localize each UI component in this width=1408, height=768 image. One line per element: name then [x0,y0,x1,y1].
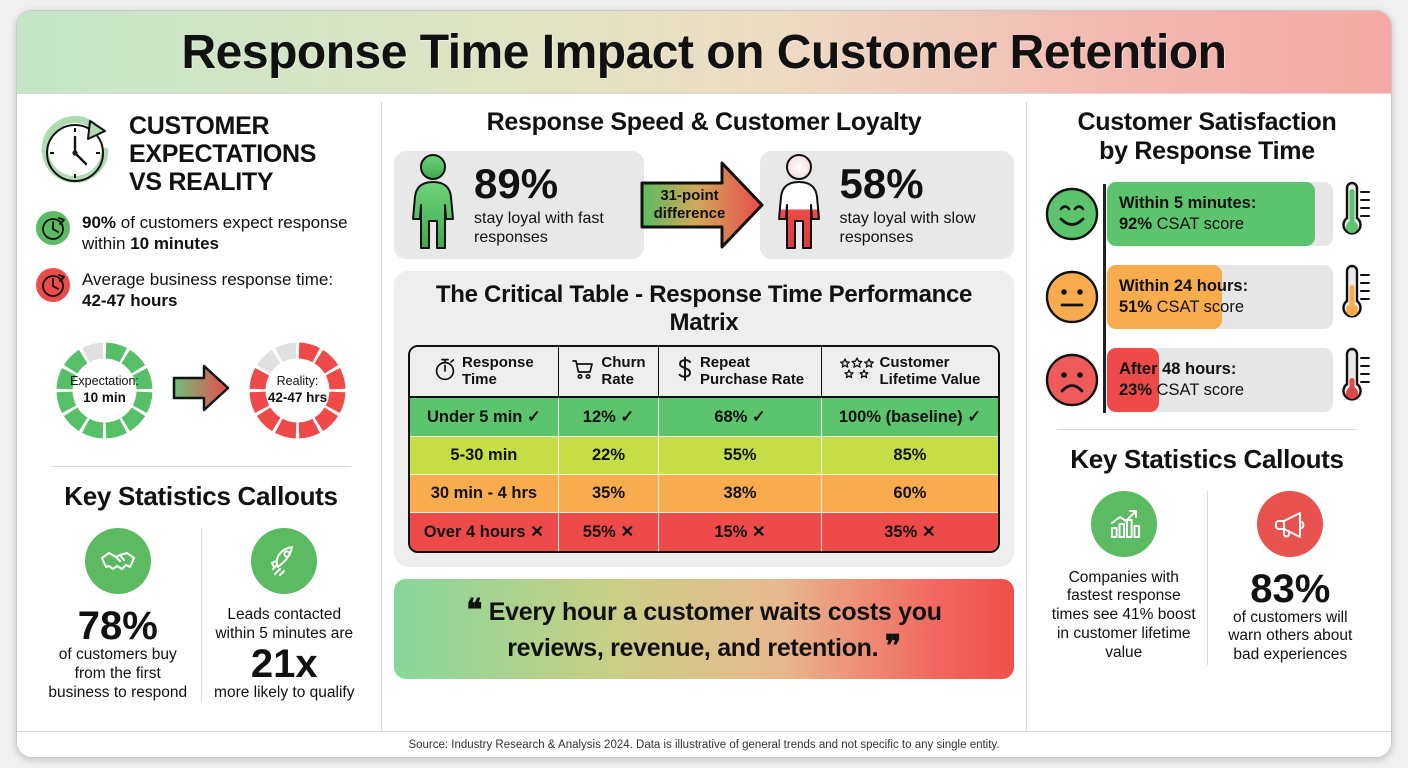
csat-bar-label: Within 5 minutes: 92% CSAT score [1107,193,1256,234]
column-header-label: Response Time [462,354,534,389]
customer-expectations-title: CUSTOMER EXPECTATIONS VS REALITY [129,112,316,196]
key-stat-value: 78% [43,606,193,646]
csat-suffix: CSAT score [1152,215,1244,233]
smiley-happy-icon [1045,187,1099,241]
donut-value: 42-47 hrs [268,390,327,407]
title-line-1: CUSTOMER [129,112,316,140]
csat-row: Within 24 hours: 51% CSAT score [1045,263,1373,332]
quote-banner: ❝ Every hour a customer waits costs your… [394,579,1014,679]
table-row: Over 4 hours ✕ 55% ✕ 15% ✕ 35% ✕ [410,513,998,551]
cell-response-time: 5-30 min [410,437,559,475]
red-clock-icon [35,267,71,308]
csat-suffix: CSAT score [1152,381,1244,399]
thermometer-green-icon [1339,180,1373,249]
table-row: 30 min - 4 hrs 35% 38% 60% [410,475,998,513]
quote-close-mark: ❞ [885,630,901,663]
person-green-icon [402,153,464,258]
header-banner: Response Time Impact on Customer Retenti… [17,11,1391,94]
page-title: Response Time Impact on Customer Retenti… [182,25,1227,80]
bullet-plain-text: Average business response time: [82,270,333,289]
csat-axis-line [1103,184,1106,413]
bullet-bold-value-2: 42-47 hours [82,291,177,310]
key-stat-item: Companies with fastest response times se… [1041,491,1207,666]
csat-row: After 48 hours: 23% CSAT score [1045,346,1373,415]
csat-value: 23% [1119,381,1152,399]
thermometer-orange-icon [1339,263,1373,332]
right-key-stats-row: Companies with fastest response times se… [1041,491,1373,666]
bullet-bold-value-2: 10 minutes [130,234,219,253]
csat-label: Within 5 minutes: [1119,194,1256,212]
header-line-2: Time [462,371,497,388]
right-key-stats-title: Key Statistics Callouts [1041,444,1373,475]
slow-response-value: 58% [840,163,999,205]
bullet-item: Average business response time: 42-47 ho… [35,267,367,312]
person-red-icon [768,153,830,258]
difference-label: 31-point difference [644,187,736,223]
column-header-lifetime-value: Customer Lifetime Value [822,347,998,398]
infographic-card: Response Time Impact on Customer Retenti… [16,10,1392,758]
donut-value: 10 min [83,390,126,407]
shopping-cart-icon [571,357,595,385]
performance-matrix-panel: The Critical Table - Response Time Perfo… [394,271,1014,567]
csat-label: After 48 hours: [1119,360,1236,378]
growth-chart-icon [1091,491,1157,557]
csat-bar-track: After 48 hours: 23% CSAT score [1107,348,1333,412]
column-header-response-time: Response Time [410,347,559,398]
cell-lifetime-value: 85% [822,437,998,475]
csat-title-line-1: Customer Satisfaction [1041,108,1373,137]
cell-churn-rate: 55% ✕ [559,513,659,551]
donut-label: Reality: [277,374,319,390]
csat-bar-label: Within 24 hours: 51% CSAT score [1107,276,1248,317]
header-line-1: Response [462,354,534,371]
customer-expectations-header: CUSTOMER EXPECTATIONS VS REALITY [35,112,367,196]
header-line-2: Purchase Rate [700,371,804,388]
table-head: Response Time [410,347,998,398]
csat-bar-track: Within 5 minutes: 92% CSAT score [1107,182,1333,246]
header-line-1: Churn [601,354,645,371]
expectation-bullets: 90% of customers expect response within … [35,210,367,311]
donut-label: Expectation: [70,374,139,390]
stars-icon [840,357,874,385]
expectation-vs-reality-donuts: Expectation: 10 min Reality: [35,333,367,448]
reality-donut: Reality: 42-47 hrs [240,333,355,448]
stopwatch-icon [434,357,456,385]
table-body: Under 5 min ✓ 12% ✓ 68% ✓ 100% (baseline… [410,398,998,551]
right-column: Customer Satisfaction by Response Time W… [1027,102,1391,731]
dollar-icon [676,356,694,386]
cell-churn-rate: 12% ✓ [559,398,659,437]
column-header-label: Churn Rate [601,354,645,389]
left-column: CUSTOMER EXPECTATIONS VS REALITY [17,102,381,731]
smiley-neutral-icon [1045,270,1099,324]
csat-title-line-2: by Response Time [1041,137,1373,166]
main-body: CUSTOMER EXPECTATIONS VS REALITY [17,94,1391,731]
csat-bar-list: Within 5 minutes: 92% CSAT score [1041,180,1373,415]
thermometer-red-icon [1339,346,1373,415]
key-stat-value: 21x [210,644,360,684]
quote-line-2: reviews, revenue, and retention. [507,634,878,662]
table-header-row: Response Time [410,347,998,398]
quote-line-1: Every hour a customer waits costs you [489,598,942,626]
cell-lifetime-value: 35% ✕ [822,513,998,551]
smiley-sad-icon [1045,353,1099,407]
cell-repeat-purchase: 68% ✓ [659,398,822,437]
title-line-2: EXPECTATIONS [129,140,316,168]
clock-arrow-icon [35,113,117,196]
column-header-label: Repeat Purchase Rate [700,354,804,389]
cell-repeat-purchase: 38% [659,475,822,513]
footer: Source: Industry Research & Analysis 202… [17,731,1391,757]
csat-suffix: CSAT score [1152,298,1244,316]
quote-text: ❝ Every hour a customer waits costs your… [416,593,992,665]
source-note: Source: Industry Research & Analysis 202… [408,739,999,751]
megaphone-icon [1257,491,1323,557]
performance-matrix-table: Response Time [408,345,1000,553]
bullet-text: Average business response time: 42-47 ho… [82,267,333,312]
rocket-icon [251,528,317,594]
csat-bar-label: After 48 hours: 23% CSAT score [1107,359,1244,400]
csat-title: Customer Satisfaction by Response Time [1041,108,1373,166]
bullet-text: 90% of customers expect response within … [82,210,367,255]
quote-open-mark: ❝ [466,594,482,627]
header-line-2: Lifetime Value [880,371,981,388]
header-line-2: Rate [601,371,634,388]
handshake-icon [85,528,151,594]
cell-response-time: Under 5 min ✓ [410,398,559,437]
csat-label: Within 24 hours: [1119,277,1248,295]
left-key-stats-row: 78% of customers buy from the first busi… [35,528,367,703]
key-stat-item: 83% of customers will warn others about … [1207,491,1374,666]
cell-response-time: Over 4 hours ✕ [410,513,559,551]
column-header-repeat-purchase: Repeat Purchase Rate [659,347,822,398]
cell-response-time: 30 min - 4 hrs [410,475,559,513]
csat-value: 92% [1119,215,1152,233]
cell-lifetime-value: 100% (baseline) ✓ [822,398,998,437]
fast-response-value: 89% [474,163,628,205]
table-row: 5-30 min 22% 55% 85% [410,437,998,475]
column-header-label: Customer Lifetime Value [880,354,981,389]
left-divider [51,466,351,467]
cell-repeat-purchase: 55% [659,437,822,475]
cell-lifetime-value: 60% [822,475,998,513]
expectation-donut: Expectation: 10 min [47,333,162,448]
cell-churn-rate: 22% [559,437,659,475]
difference-arrow: 31-point difference [638,157,766,253]
header-line-1: Repeat [700,354,750,371]
column-header-churn-rate: Churn Rate [559,347,659,398]
slow-response-stat: 58% stay loyal with slow responses [760,151,1015,259]
table-row: Under 5 min ✓ 12% ✓ 68% ✓ 100% (baseline… [410,398,998,437]
table-title: The Critical Table - Response Time Perfo… [408,281,1000,337]
fast-response-caption: stay loyal with fast responses [474,209,628,247]
key-stat-pre-caption: Leads contacted within 5 minutes are [210,606,360,644]
key-stat-caption: Companies with fastest response times se… [1049,569,1199,664]
reality-donut-label: Reality: 42-47 hrs [240,333,355,448]
key-stat-value: 83% [1216,569,1366,609]
fast-response-stat: 89% stay loyal with fast responses [394,151,644,259]
bullet-item: 90% of customers expect response within … [35,210,367,255]
right-divider [1057,429,1357,430]
key-stat-caption: of customers will warn others about bad … [1216,609,1366,666]
loyalty-title: Response Speed & Customer Loyalty [394,108,1014,137]
key-stat-item: 78% of customers buy from the first busi… [35,528,201,703]
expectation-donut-label: Expectation: 10 min [47,333,162,448]
difference-line-1: 31-point [644,187,736,205]
csat-row: Within 5 minutes: 92% CSAT score [1045,180,1373,249]
key-stat-item: Leads contacted within 5 minutes are 21x… [201,528,368,703]
cell-repeat-purchase: 15% ✕ [659,513,822,551]
middle-column: Response Speed & Customer Loyalty 89% st… [381,102,1027,731]
difference-line-2: difference [644,205,736,223]
loyalty-comparison: 89% stay loyal with fast responses 31-po… [394,151,1014,259]
cell-churn-rate: 35% [559,475,659,513]
key-stat-caption: more likely to qualify [210,684,360,703]
key-stat-caption: of customers buy from the first business… [43,646,193,703]
csat-value: 51% [1119,298,1152,316]
gradient-arrow-icon [170,360,232,421]
slow-response-caption: stay loyal with slow responses [840,209,999,247]
bullet-bold-value: 90% [82,213,116,232]
header-line-1: Customer [880,354,950,371]
green-clock-icon [35,210,71,251]
left-key-stats-title: Key Statistics Callouts [35,481,367,512]
title-line-3: VS REALITY [129,168,316,196]
csat-bar-track: Within 24 hours: 51% CSAT score [1107,265,1333,329]
